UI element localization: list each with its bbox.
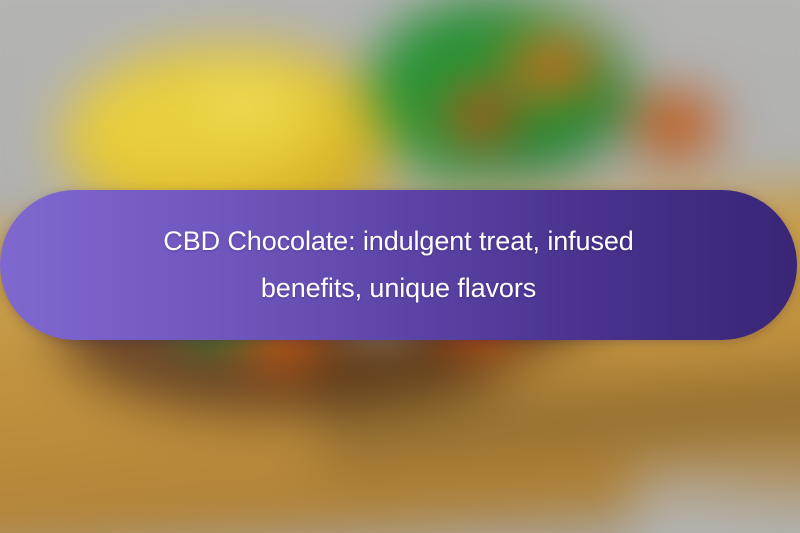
page-title: CBD Chocolate: indulgent treat, infused … <box>79 218 719 312</box>
carrot-piece-c <box>630 90 720 160</box>
carrot-piece-a <box>505 35 600 97</box>
hero-card: CBD Chocolate: indulgent treat, infused … <box>0 0 800 533</box>
scrambled-eggs-highlight <box>155 58 345 168</box>
title-banner: CBD Chocolate: indulgent treat, infused … <box>0 190 797 340</box>
carrot-piece-b <box>445 88 515 143</box>
